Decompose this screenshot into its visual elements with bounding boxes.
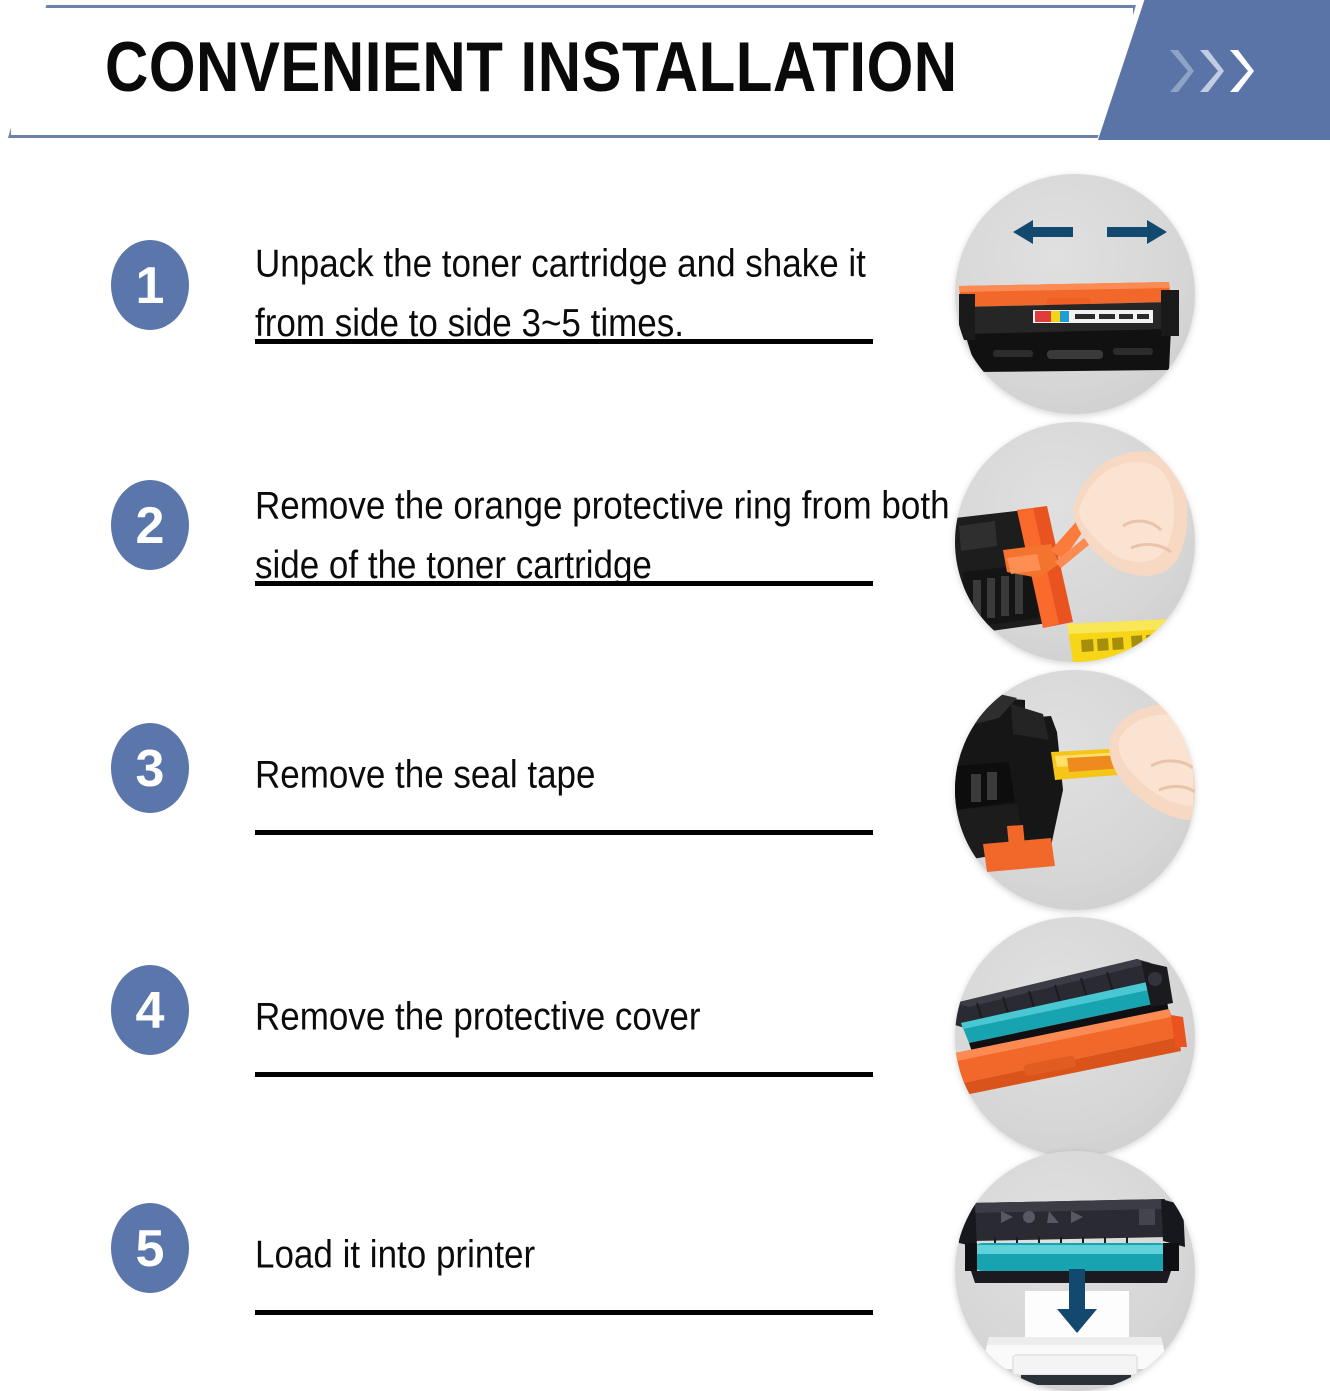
arrow-left-icon	[1013, 220, 1073, 244]
step-number-badge-5: 5	[111, 1203, 189, 1293]
step-number-badge-3: 3	[111, 723, 189, 813]
page-title: CONVENIENT INSTALLATION	[105, 26, 1105, 107]
header-banner: CONVENIENT INSTALLATION	[0, 0, 1330, 145]
photo-load-into-printer	[955, 1151, 1195, 1391]
arrow-right-icon	[1107, 220, 1167, 244]
step-text-3: Remove the seal tape	[255, 745, 935, 804]
step-divider-3	[255, 830, 873, 835]
triple-chevron-right-icon	[1168, 48, 1288, 94]
step-number-badge-1: 1	[111, 240, 189, 330]
step-number-badge-2: 2	[111, 480, 189, 570]
step-divider-2	[255, 581, 873, 586]
chevron-right-icon-1	[1168, 48, 1194, 94]
photo-remove-protective-cover	[955, 917, 1195, 1157]
step-divider-4	[255, 1072, 873, 1077]
step-divider-1	[255, 339, 873, 344]
step-text-1: Unpack the toner cartridge and shake it …	[255, 234, 935, 353]
photo-remove-orange-ring	[955, 422, 1195, 662]
photo-shake-cartridge	[955, 174, 1195, 414]
step-text-2: Remove the orange protective ring from b…	[255, 476, 955, 595]
chevron-right-icon-2	[1198, 48, 1224, 94]
chevron-right-icon-3	[1228, 48, 1254, 94]
step-number-badge-4: 4	[111, 965, 189, 1055]
installation-infographic: CONVENIENT INSTALLATION 1 Unpack the ton…	[0, 0, 1330, 1391]
step-text-5: Load it into printer	[255, 1225, 935, 1284]
step-text-4: Remove the protective cover	[255, 987, 935, 1046]
photo-remove-seal-tape	[955, 670, 1195, 910]
step-divider-5	[255, 1310, 873, 1315]
